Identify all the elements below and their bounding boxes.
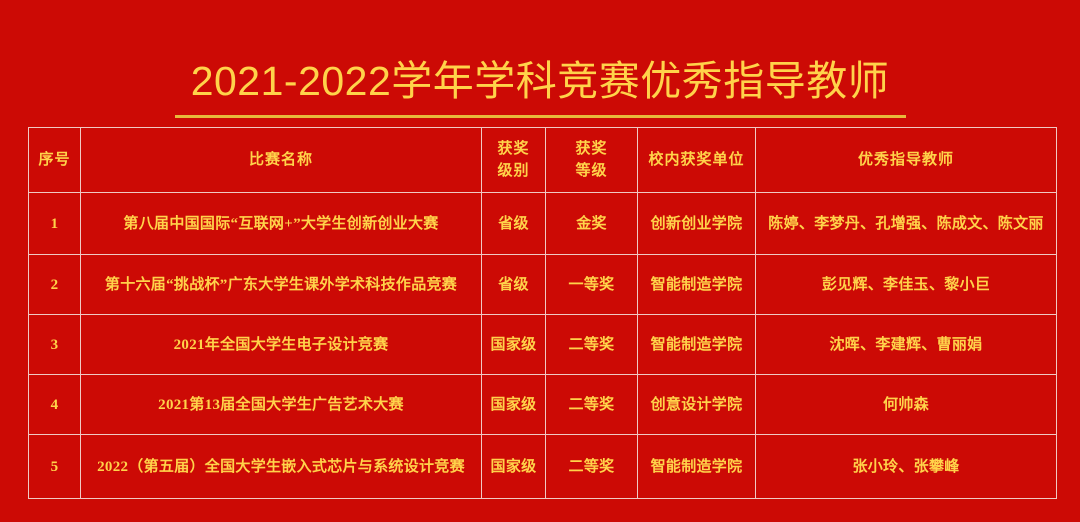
- award-table-container: 序号 比赛名称 获奖级别 获奖等级 校内获奖单位 优秀指导教师 1 第八届中国国…: [28, 127, 1056, 496]
- cell-index: 4: [29, 375, 81, 435]
- cell-award-unit: 智能制造学院: [638, 435, 756, 499]
- table-header: 序号 比赛名称 获奖级别 获奖等级 校内获奖单位 优秀指导教师: [29, 128, 1057, 193]
- title-banner: 2021-2022学年学科竞赛优秀指导教师: [0, 0, 1080, 118]
- cell-award-grade: 一等奖: [546, 255, 638, 315]
- table-row: 1 第八届中国国际“互联网+”大学生创新创业大赛 省级 金奖 创新创业学院 陈婷…: [29, 193, 1057, 255]
- column-header-teacher: 优秀指导教师: [756, 128, 1057, 193]
- table-body: 1 第八届中国国际“互联网+”大学生创新创业大赛 省级 金奖 创新创业学院 陈婷…: [29, 193, 1057, 499]
- cell-award-level: 省级: [482, 193, 546, 255]
- table-row: 2 第十六届“挑战杯”广东大学生课外学术科技作品竞赛 省级 一等奖 智能制造学院…: [29, 255, 1057, 315]
- cell-index: 2: [29, 255, 81, 315]
- cell-award-level: 国家级: [482, 315, 546, 375]
- cell-teachers: 何帅森: [756, 375, 1057, 435]
- column-header-grade: 获奖等级: [546, 128, 638, 193]
- cell-teachers: 陈婷、李梦丹、孔增强、陈成文、陈文丽: [756, 193, 1057, 255]
- cell-index: 5: [29, 435, 81, 499]
- cell-competition-name: 第十六届“挑战杯”广东大学生课外学术科技作品竞赛: [81, 255, 482, 315]
- table-row: 5 2022（第五届）全国大学生嵌入式芯片与系统设计竞赛 国家级 二等奖 智能制…: [29, 435, 1057, 499]
- cell-competition-name: 2021年全国大学生电子设计竞赛: [81, 315, 482, 375]
- cell-award-level: 国家级: [482, 435, 546, 499]
- cell-index: 3: [29, 315, 81, 375]
- cell-teachers: 彭见辉、李佳玉、黎小巨: [756, 255, 1057, 315]
- cell-award-unit: 智能制造学院: [638, 315, 756, 375]
- cell-award-grade: 二等奖: [546, 315, 638, 375]
- cell-award-grade: 二等奖: [546, 435, 638, 499]
- page-title: 2021-2022学年学科竞赛优秀指导教师: [191, 57, 890, 105]
- cell-award-unit: 创意设计学院: [638, 375, 756, 435]
- cell-award-level: 国家级: [482, 375, 546, 435]
- cell-competition-name: 2022（第五届）全国大学生嵌入式芯片与系统设计竞赛: [81, 435, 482, 499]
- cell-competition-name: 第八届中国国际“互联网+”大学生创新创业大赛: [81, 193, 482, 255]
- cell-award-unit: 智能制造学院: [638, 255, 756, 315]
- column-header-index: 序号: [29, 128, 81, 193]
- column-header-name: 比赛名称: [81, 128, 482, 193]
- table-row: 4 2021第13届全国大学生广告艺术大赛 国家级 二等奖 创意设计学院 何帅森: [29, 375, 1057, 435]
- cell-index: 1: [29, 193, 81, 255]
- award-table: 序号 比赛名称 获奖级别 获奖等级 校内获奖单位 优秀指导教师 1 第八届中国国…: [28, 127, 1057, 499]
- table-row: 3 2021年全国大学生电子设计竞赛 国家级 二等奖 智能制造学院 沈晖、李建辉…: [29, 315, 1057, 375]
- column-header-unit: 校内获奖单位: [638, 128, 756, 193]
- cell-competition-name: 2021第13届全国大学生广告艺术大赛: [81, 375, 482, 435]
- cell-teachers: 张小玲、张攀峰: [756, 435, 1057, 499]
- column-header-level: 获奖级别: [482, 128, 546, 193]
- title-underline-rule: [175, 115, 906, 118]
- table-header-row: 序号 比赛名称 获奖级别 获奖等级 校内获奖单位 优秀指导教师: [29, 128, 1057, 193]
- cell-teachers: 沈晖、李建辉、曹丽娟: [756, 315, 1057, 375]
- cell-award-grade: 金奖: [546, 193, 638, 255]
- cell-award-level: 省级: [482, 255, 546, 315]
- cell-award-unit: 创新创业学院: [638, 193, 756, 255]
- cell-award-grade: 二等奖: [546, 375, 638, 435]
